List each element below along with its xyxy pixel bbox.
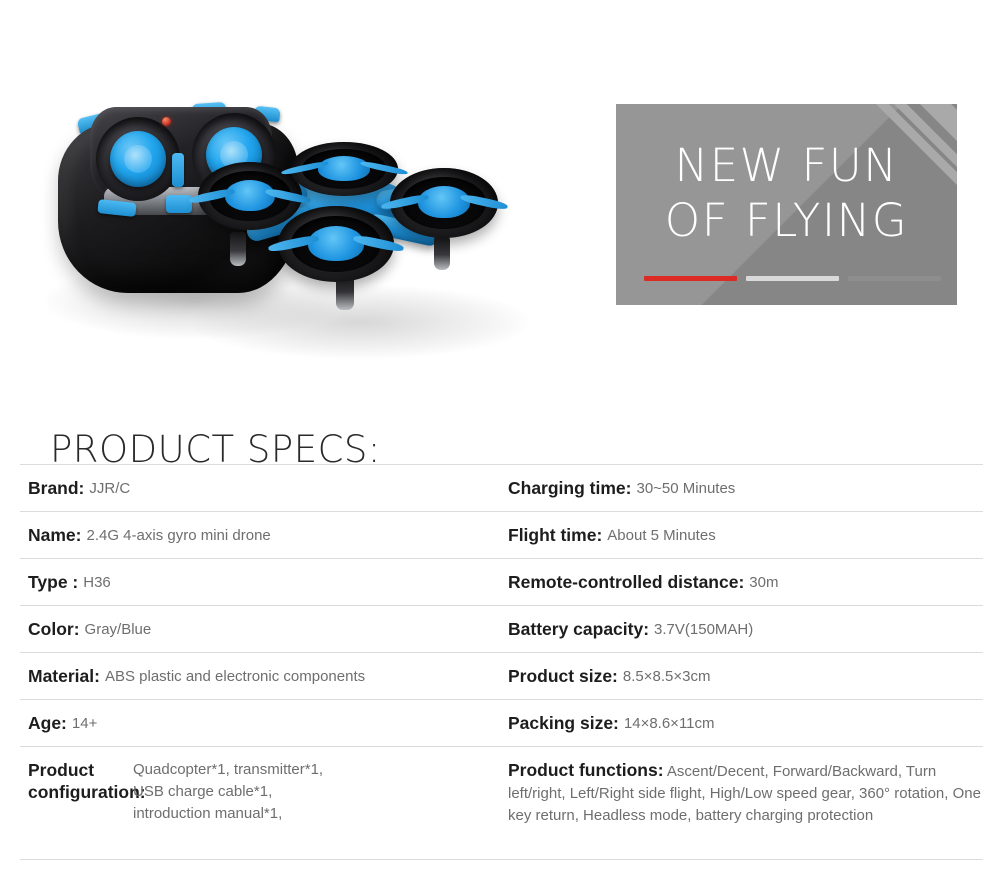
spec-value-charging-time: 30~50 Minutes bbox=[636, 480, 735, 497]
drone-foot-left bbox=[230, 232, 246, 266]
spec-cell-brand: Brand: JJR/C bbox=[20, 465, 500, 511]
product-photo bbox=[40, 95, 540, 360]
drone-propeller-front-bottom bbox=[308, 226, 364, 261]
spec-label-material: Material: bbox=[28, 666, 100, 687]
drone-propeller-rear-left bbox=[225, 180, 275, 211]
hero-section: NEW FUN OF FLYING bbox=[0, 0, 1000, 390]
spec-cell-color: Color: Gray/Blue bbox=[20, 606, 500, 652]
spec-value-age: 14+ bbox=[72, 715, 97, 732]
spec-value-type: H36 bbox=[83, 574, 111, 591]
spec-cell-remote-distance: Remote-controlled distance: 30m bbox=[500, 559, 983, 605]
spec-cell-material: Material: ABS plastic and electronic com… bbox=[20, 653, 500, 699]
drone-rotor-rear-right bbox=[390, 168, 498, 238]
spec-cell-type: Type : H36 bbox=[20, 559, 500, 605]
spec-label-product-functions: Product functions: bbox=[508, 760, 664, 780]
spec-label-product-configuration: Product configuration: bbox=[28, 759, 128, 803]
spec-cell-product-size: Product size: 8.5×8.5×3cm bbox=[500, 653, 983, 699]
spec-cell-product-configuration: Product configuration: Quadcopter*1, tra… bbox=[20, 747, 500, 859]
table-row: Brand: JJR/C Charging time: 30~50 Minute… bbox=[20, 464, 983, 511]
spec-value-product-configuration: Quadcopter*1, transmitter*1, USB charge … bbox=[133, 759, 323, 825]
spec-value-remote-distance: 30m bbox=[749, 574, 778, 591]
spec-cell-name: Name: 2.4G 4-axis gyro mini drone bbox=[20, 512, 500, 558]
banner-progress-bar-third[interactable] bbox=[848, 276, 941, 281]
table-row: Material: ABS plastic and electronic com… bbox=[20, 652, 983, 699]
table-row: Age: 14+ Packing size: 14×8.6×11cm bbox=[20, 699, 983, 746]
spec-product-functions-block: Product functions: Ascent/Decent, Forwar… bbox=[508, 759, 983, 827]
spec-value-material: ABS plastic and electronic components bbox=[105, 668, 365, 685]
spec-value-packing-size: 14×8.6×11cm bbox=[624, 715, 715, 732]
spec-label-remote-distance: Remote-controlled distance: bbox=[508, 572, 744, 593]
drone-propeller-rear-right bbox=[418, 186, 470, 218]
spec-label-packing-size: Packing size: bbox=[508, 713, 619, 734]
drone-rotor-front-top bbox=[290, 142, 398, 196]
spec-label-brand: Brand: bbox=[28, 478, 84, 499]
spec-cell-flight-time: Flight time: About 5 Minutes bbox=[500, 512, 983, 558]
drone-foot-right bbox=[434, 236, 450, 270]
spec-cell-packing-size: Packing size: 14×8.6×11cm bbox=[500, 700, 983, 746]
spec-cell-product-functions: Product functions: Ascent/Decent, Forwar… bbox=[500, 747, 983, 859]
trim-button-center-top bbox=[172, 153, 184, 187]
spec-value-battery-capacity: 3.7V(150MAH) bbox=[654, 621, 753, 638]
promo-banner: NEW FUN OF FLYING bbox=[616, 104, 957, 305]
spec-value-name: 2.4G 4-axis gyro mini drone bbox=[87, 527, 271, 544]
drone-rotor-front-bottom bbox=[278, 206, 394, 282]
banner-progress-indicator[interactable] bbox=[644, 276, 941, 281]
banner-title: NEW FUN OF FLYING bbox=[616, 138, 957, 248]
spec-value-brand: JJR/C bbox=[89, 480, 130, 497]
banner-progress-bar-active[interactable] bbox=[644, 276, 737, 281]
banner-progress-bar-second[interactable] bbox=[746, 276, 839, 281]
spec-label-product-size: Product size: bbox=[508, 666, 618, 687]
trim-button-center-lower bbox=[166, 195, 192, 213]
spec-label-color: Color: bbox=[28, 619, 80, 640]
spec-table: Brand: JJR/C Charging time: 30~50 Minute… bbox=[20, 464, 983, 860]
spec-label-name: Name: bbox=[28, 525, 82, 546]
spec-cell-charging-time: Charging time: 30~50 Minutes bbox=[500, 465, 983, 511]
spec-label-charging-time: Charging time: bbox=[508, 478, 631, 499]
spec-cell-battery-capacity: Battery capacity: 3.7V(150MAH) bbox=[500, 606, 983, 652]
drone-propeller-front-top bbox=[318, 156, 370, 181]
spec-label-age: Age: bbox=[28, 713, 67, 734]
table-row: Color: Gray/Blue Battery capacity: 3.7V(… bbox=[20, 605, 983, 652]
spec-label-type: Type : bbox=[28, 572, 78, 593]
joystick-left bbox=[110, 131, 166, 187]
spec-value-flight-time: About 5 Minutes bbox=[607, 527, 715, 544]
spec-cell-age: Age: 14+ bbox=[20, 700, 500, 746]
spec-value-product-size: 8.5×8.5×3cm bbox=[623, 668, 711, 685]
mini-drone bbox=[190, 150, 510, 350]
table-row: Type : H36 Remote-controlled distance: 3… bbox=[20, 558, 983, 605]
table-row: Name: 2.4G 4-axis gyro mini drone Flight… bbox=[20, 511, 983, 558]
table-row: Product configuration: Quadcopter*1, tra… bbox=[20, 746, 983, 860]
spec-label-battery-capacity: Battery capacity: bbox=[508, 619, 649, 640]
banner-title-line-1: NEW FUN bbox=[616, 138, 957, 193]
spec-value-color: Gray/Blue bbox=[85, 621, 152, 638]
banner-title-line-2: OF FLYING bbox=[616, 193, 957, 248]
power-led-icon bbox=[162, 117, 171, 126]
spec-label-flight-time: Flight time: bbox=[508, 525, 602, 546]
